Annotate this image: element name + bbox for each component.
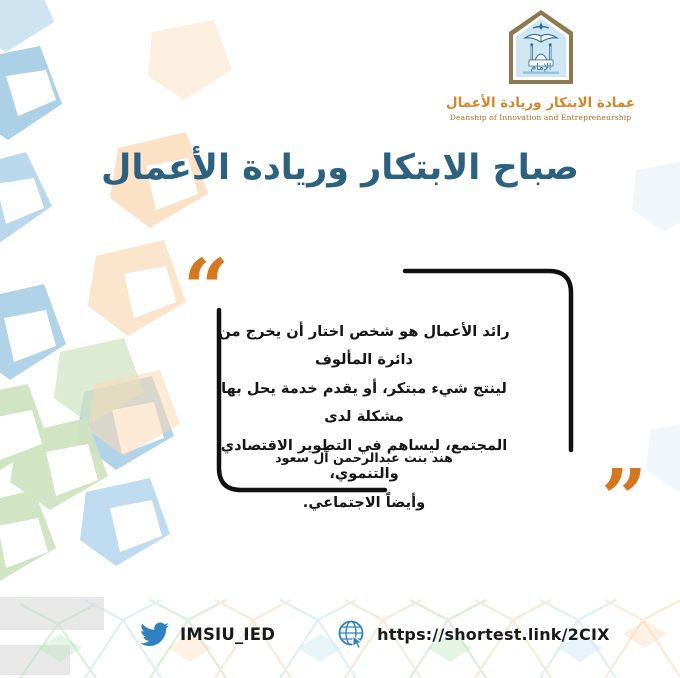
globe-cursor-icon [337, 619, 367, 649]
deanship-name-arabic: عمادة الابتكار وريادة الأعمال [423, 96, 658, 112]
website-url-label: https://shortest.link/2CIX [377, 625, 610, 644]
twitter-handle-label: IMSIU_IED [180, 625, 275, 644]
footer-band: IMSIU_IED https://shortest.link/2CIX [0, 590, 680, 678]
quote-close-mark: ” [601, 458, 647, 538]
quote-author: هند بنت عبدالرحمن آل سعود [214, 450, 514, 465]
deanship-logo-block: الإمام عمادة الابتكار وريادة الأعمال Dea… [423, 8, 658, 122]
imsiu-university-crest-icon: الإمام [503, 8, 579, 88]
website-link-item[interactable]: https://shortest.link/2CIX [337, 619, 610, 649]
quote-line: رائد الأعمال هو شخص اختار أن يخرج من دائ… [214, 318, 514, 375]
quote-line: وأيضاً الاجتماعي. [214, 489, 514, 517]
poster-canvas: الإمام عمادة الابتكار وريادة الأعمال Dea… [0, 0, 680, 678]
quote-line: لينتج شيء مبتكر، أو يقدم خدمة يحل بها مش… [214, 375, 514, 432]
deanship-name-english: Deanship of Innovation and Entrepreneurs… [423, 113, 658, 122]
twitter-bird-icon [140, 622, 170, 647]
quote-text: رائد الأعمال هو شخص اختار أن يخرج من دائ… [214, 318, 514, 517]
page-title: صباح الابتكار وريادة الأعمال [0, 148, 680, 188]
twitter-handle-item[interactable]: IMSIU_IED [140, 622, 275, 647]
